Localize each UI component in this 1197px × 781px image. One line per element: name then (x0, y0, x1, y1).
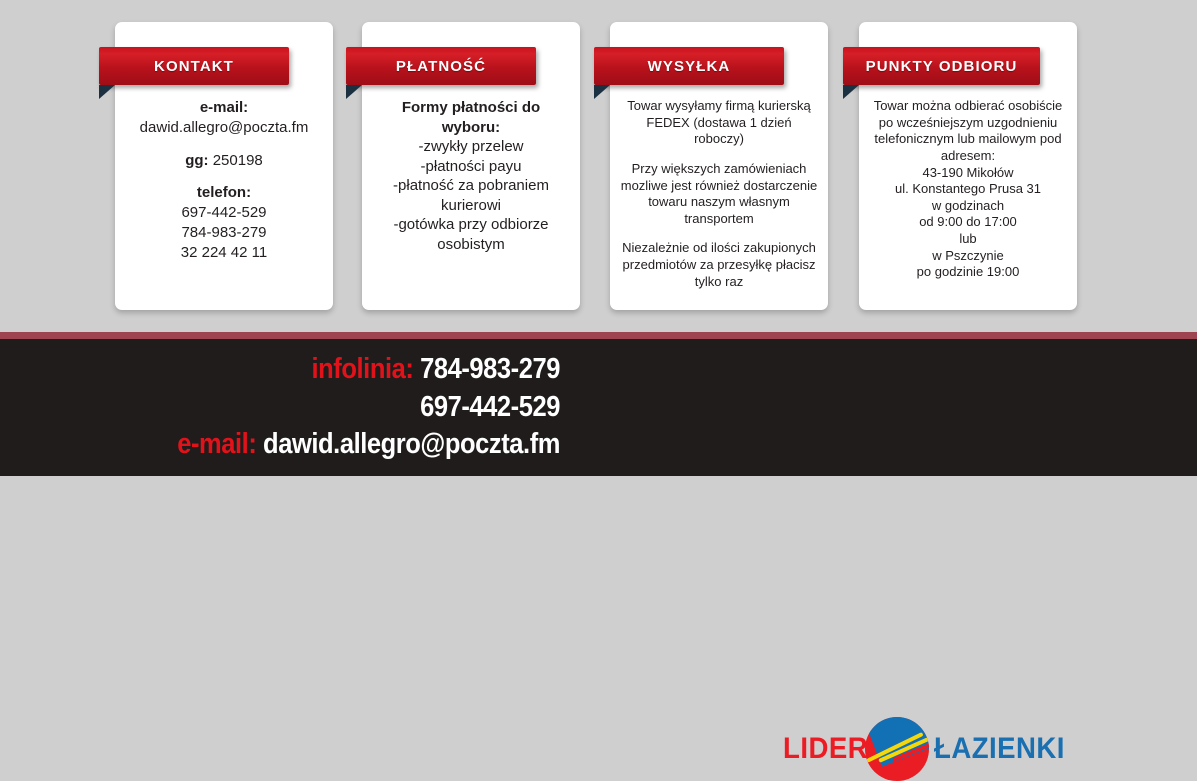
footer-label-infolinia: infolinia: (312, 353, 414, 385)
info-card-wysylka: WYSYŁKA Towar wysyłamy firmą kurierską F… (610, 22, 828, 310)
card-header-title: PŁATNOŚĆ (396, 58, 486, 75)
line-spacer (123, 138, 325, 151)
line-spacer (123, 170, 325, 183)
card-line: roboczy) (618, 131, 820, 148)
card-line-city: w Pszczynie (867, 248, 1069, 265)
card-line: osobistym (370, 235, 572, 255)
card-line-phone: 784-983-279 (123, 223, 325, 243)
ribbon-fold-shape (99, 85, 115, 99)
card-header-ribbon: KONTAKT (99, 47, 289, 85)
card-line: Przy większych zamówieniach (618, 161, 820, 178)
card-header-ribbon: PUNKTY ODBIORU (843, 47, 1040, 85)
line-spacer (618, 148, 820, 161)
section-divider (0, 332, 1197, 339)
card-line: Niezależnie od ilości zakupionych (618, 240, 820, 257)
card-header-title: KONTAKT (154, 58, 234, 75)
footer-label-email: e-mail: (177, 428, 256, 460)
brand-logo: LIDER ŁAZIENKI (783, 721, 1083, 779)
card-line-email: dawid.allegro@poczta.fm (123, 118, 325, 138)
page-root: KONTAKT e-mail: dawid.allegro@poczta.fm … (0, 0, 1197, 476)
gg-value: 250198 (213, 152, 263, 169)
card-line: -płatności payu (370, 157, 572, 177)
footer-line-infolinia: infolinia: 784-983-279 (67, 351, 560, 389)
card-line: -płatność za pobraniem (370, 176, 572, 196)
footer-value-phone-2: 697-442-529 (420, 391, 560, 423)
footer-value-phone-1: 784-983-279 (420, 353, 560, 385)
info-card-platnosc: PŁATNOŚĆ Formy płatności do wyboru: -zwy… (362, 22, 580, 310)
card-line: tylko raz (618, 274, 820, 291)
card-header-title: WYSYŁKA (648, 58, 731, 75)
card-line: FEDEX (dostawa 1 dzień (618, 115, 820, 132)
card-line: przedmiotów za przesyłkę płacisz (618, 257, 820, 274)
footer-value-email: dawid.allegro@poczta.fm (263, 428, 560, 460)
card-line: kurierowi (370, 196, 572, 216)
card-line-phone: 697-442-529 (123, 203, 325, 223)
info-card-punkty-odbioru: PUNKTY ODBIORU Towar można odbierać osob… (859, 22, 1077, 310)
ribbon-fold-shape (843, 85, 859, 99)
card-header-ribbon: WYSYŁKA (594, 47, 784, 85)
card-line-hours: od 9:00 do 17:00 (867, 214, 1069, 231)
logo-word-lazienki: ŁAZIENKI (934, 732, 1065, 766)
card-body-wysylka: Towar wysyłamy firmą kurierską FEDEX (do… (618, 98, 820, 302)
footer-line-email: e-mail: dawid.allegro@poczta.fm (67, 426, 560, 464)
card-line: po wcześniejszym uzgodnieniu (867, 115, 1069, 132)
card-line: adresem: (867, 148, 1069, 165)
footer-contact-block: infolinia: 784-983-279 697-442-529 e-mai… (0, 351, 560, 464)
card-body-punkty-odbioru: Towar można odbierać osobiście po wcześn… (867, 98, 1069, 302)
line-spacer (618, 227, 820, 240)
card-line: Formy płatności do (370, 98, 572, 118)
card-line: towaru naszym własnym (618, 194, 820, 211)
card-line: Towar wysyłamy firmą kurierską (618, 98, 820, 115)
gg-label: gg: (185, 152, 208, 169)
card-header-title: PUNKTY ODBIORU (866, 58, 1018, 75)
info-cards-strip: KONTAKT e-mail: dawid.allegro@poczta.fm … (0, 0, 1197, 332)
card-line: transportem (618, 211, 820, 228)
card-line-gg: gg: 250198 (123, 151, 325, 171)
card-line: mozliwe jest również dostarczenie (618, 178, 820, 195)
card-line-phone: 32 224 42 11 (123, 243, 325, 263)
footer-line-phone-2: 697-442-529 (67, 389, 560, 427)
card-line: lub (867, 231, 1069, 248)
card-header-ribbon: PŁATNOŚĆ (346, 47, 536, 85)
logo-circle-mark-icon (865, 717, 929, 781)
info-card-kontakt: KONTAKT e-mail: dawid.allegro@poczta.fm … (115, 22, 333, 310)
card-line-hours: po godzinie 19:00 (867, 264, 1069, 281)
footer-bar: infolinia: 784-983-279 697-442-529 e-mai… (0, 339, 1197, 476)
card-line: wyboru: (370, 118, 572, 138)
card-line-street: ul. Konstantego Prusa 31 (867, 181, 1069, 198)
card-line: telefonicznym lub mailowym pod (867, 131, 1069, 148)
ribbon-fold-shape (594, 85, 610, 99)
card-line: Towar można odbierać osobiście (867, 98, 1069, 115)
card-line: w godzinach (867, 198, 1069, 215)
ribbon-fold-shape (346, 85, 362, 99)
card-line: -zwykły przelew (370, 137, 572, 157)
card-body-kontakt: e-mail: dawid.allegro@poczta.fm gg: 2501… (123, 98, 325, 302)
card-line: -gotówka przy odbiorze (370, 215, 572, 235)
card-line: telefon: (123, 183, 325, 203)
card-line: e-mail: (123, 98, 325, 118)
card-line-city: 43-190 Mikołów (867, 165, 1069, 182)
card-body-platnosc: Formy płatności do wyboru: -zwykły przel… (370, 98, 572, 302)
logo-word-lider: LIDER (783, 732, 868, 766)
